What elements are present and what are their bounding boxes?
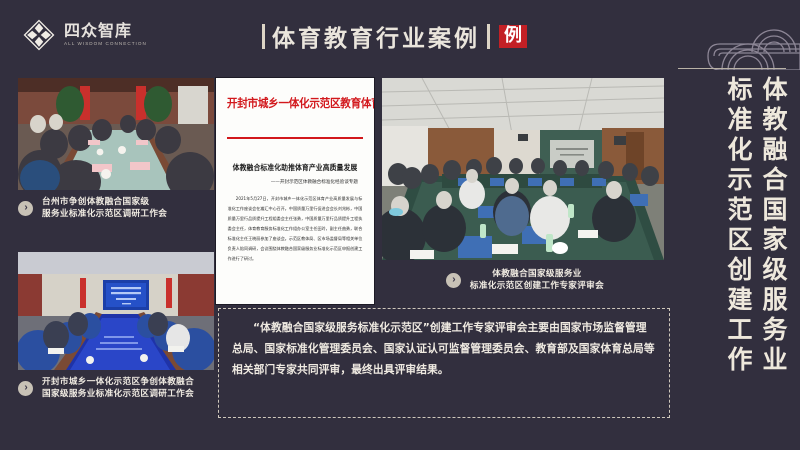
title-rule-right [487,24,490,49]
chevron-right-icon: › [446,273,461,288]
brand-name-en: ALL WISDOM CONNECTION [64,42,147,47]
vertical-title-rule [678,68,786,69]
caption-photo2-text: 开封市城乡一体化示范区争创体教融合 国家级服务业标准化示范区调研工作会 [42,376,194,401]
caption-photo1-text: 台州市争创体教融合国家级 服务业标准化示范区调研工作会 [42,196,167,221]
brand-name-cn: 四众智库 [64,23,147,39]
photo-taizhou-meeting [18,78,214,190]
photo2-graphic [18,252,214,370]
diamond-lattice-logo-icon [22,18,56,52]
slide-root: 四众智库 ALL WISDOM CONNECTION 体育教育行业案例 例 [0,0,800,450]
description-box: “体教融合国家级服务标准化示范区”创建工作专家评审会主要由国家市场监督管理总局、… [218,308,670,418]
chevron-right-icon: › [18,201,33,216]
description-text: “体教融合国家级服务标准化示范区”创建工作专家评审会主要由国家市场监督管理总局、… [232,318,655,381]
title-rule-left [262,24,265,49]
document-header-text: 开封市城乡一体化示范区教育体育局文件 [227,95,363,111]
chevron-right-icon: › [18,381,33,396]
caption-photo1: › 台州市争创体教融合国家级 服务业标准化示范区调研工作会 [18,196,228,221]
vertical-title-col-right: 体教融合国家级服务业 [761,76,786,426]
document-body-text: 2021年5月27日，开封市城乡一体化示范区体育产业高质量发展与标准化工作座谈会… [228,194,363,264]
brand-logo: 四众智库 ALL WISDOM CONNECTION [22,18,147,52]
photo-kaifeng-meeting [18,252,214,370]
document-title-text: 体教融合标准化助推体育产业高质量发展 [228,163,363,173]
caption-photo3-text: 体教融合国家级服务业 标准化示范区创建工作专家评审会 [470,268,604,293]
document-red-rule [227,137,363,139]
seal-badge: 例 [499,25,527,48]
vertical-title: 标准化示范区创建工作 体教融合国家级服务业 [726,76,786,426]
cloud-arc-decoration [630,0,800,70]
caption-photo3: › 体教融合国家级服务业 标准化示范区创建工作专家评审会 [400,268,650,293]
page-title: 体育教育行业案例 例 [262,19,527,53]
title-text: 体育教育行业案例 [272,19,480,53]
photo1-graphic [18,78,214,190]
photo-expert-review [382,78,664,260]
caption-photo2: › 开封市城乡一体化示范区争创体教融合 国家级服务业标准化示范区调研工作会 [18,376,228,401]
vertical-title-col-left: 标准化示范区创建工作 [726,76,751,426]
document-scan: 开封市城乡一体化示范区教育体育局文件 体教融合标准化助推体育产业高质量发展 ——… [216,78,374,304]
document-subtitle-text: ——开封示范区体教融合标准化经验谈专题 [224,179,358,185]
photo3-graphic [382,78,664,260]
